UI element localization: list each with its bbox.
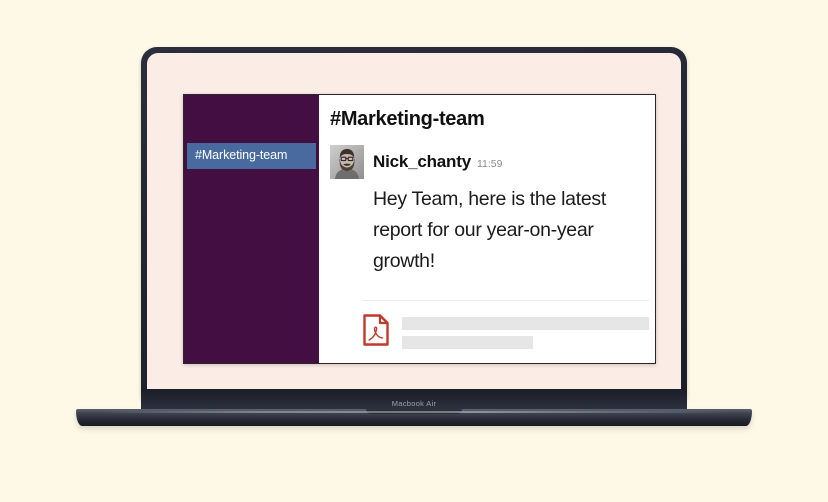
message-timestamp: 11:59 bbox=[477, 158, 503, 170]
user-avatar-photo-icon bbox=[330, 145, 364, 179]
chat-panel: #Marketing-team bbox=[319, 95, 655, 363]
laptop-base bbox=[76, 409, 752, 426]
message-header: Nick_chanty 11:59 bbox=[330, 145, 641, 179]
avatar[interactable] bbox=[330, 145, 364, 179]
laptop-mockup: #Marketing-team #Marketing-team bbox=[0, 0, 828, 502]
attachment-placeholder-lines bbox=[402, 314, 649, 355]
channel-title: #Marketing-team bbox=[330, 108, 641, 130]
author-line: Nick_chanty 11:59 bbox=[373, 152, 502, 172]
laptop-screen: #Marketing-team #Marketing-team bbox=[147, 53, 681, 399]
app-sidebar: #Marketing-team bbox=[184, 95, 319, 363]
sidebar-item-marketing-team[interactable]: #Marketing-team bbox=[187, 143, 316, 169]
message-attachment[interactable] bbox=[362, 300, 649, 355]
laptop-base-highlight bbox=[103, 411, 725, 413]
attachment-line-1 bbox=[402, 317, 649, 330]
message-text: Hey Team, here is the latest report for … bbox=[330, 184, 620, 278]
laptop-lid: #Marketing-team #Marketing-team bbox=[141, 47, 687, 399]
sidebar-item-label: #Marketing-team bbox=[195, 148, 287, 162]
pdf-file-icon[interactable] bbox=[362, 314, 390, 346]
laptop-model-label: Macbook Air bbox=[141, 399, 687, 408]
chat-app-window: #Marketing-team #Marketing-team bbox=[183, 94, 656, 364]
attachment-line-2 bbox=[402, 336, 533, 349]
message-author: Nick_chanty bbox=[373, 152, 471, 172]
